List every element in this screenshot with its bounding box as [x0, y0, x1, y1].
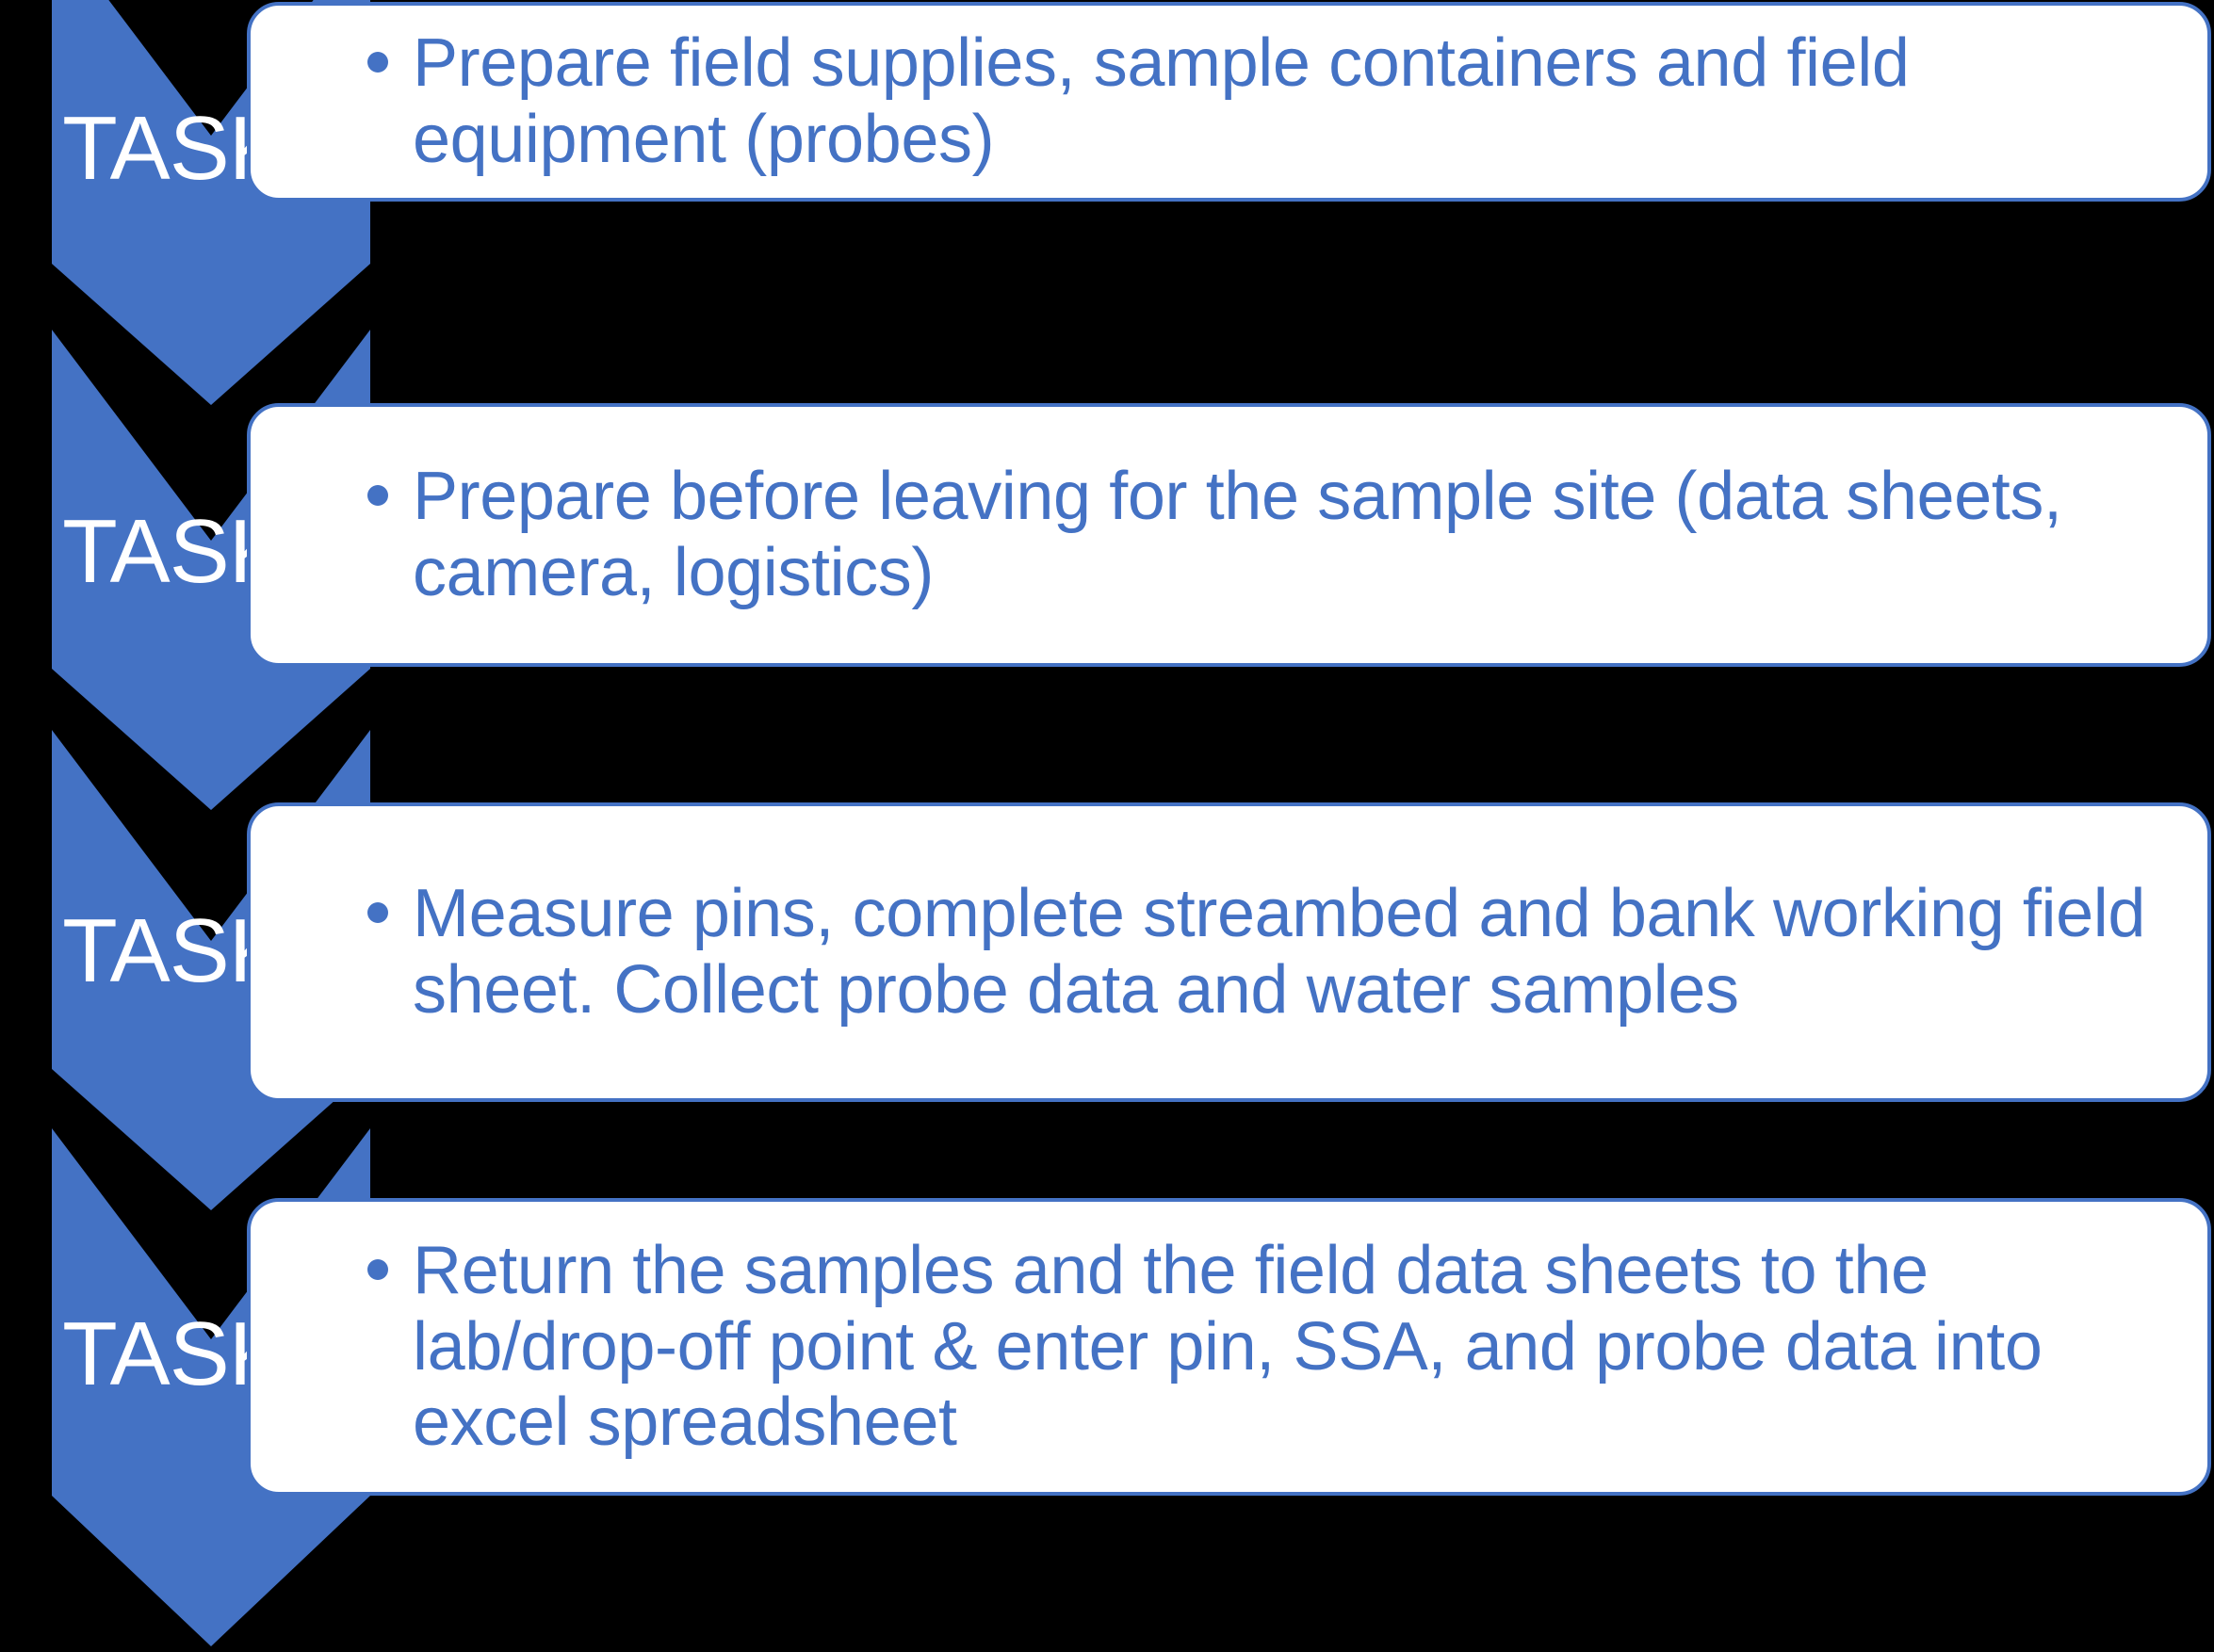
- task-2-callout: Prepare before leaving for the sample si…: [247, 403, 2211, 667]
- bullet-icon: [367, 52, 388, 73]
- task-1-callout: Prepare field supplies, sample container…: [247, 2, 2211, 202]
- bullet-icon: [367, 1259, 388, 1280]
- task-4-callout: Return the samples and the field data sh…: [247, 1198, 2211, 1496]
- task-4-text: Return the samples and the field data sh…: [413, 1233, 2173, 1461]
- bullet-icon: [367, 902, 388, 923]
- task-3-text: Measure pins, complete streambed and ban…: [413, 876, 2173, 1028]
- task-3-callout: Measure pins, complete streambed and ban…: [247, 802, 2211, 1102]
- bullet-icon: [367, 485, 388, 506]
- task-2-text: Prepare before leaving for the sample si…: [413, 459, 2173, 610]
- task-1-text: Prepare field supplies, sample container…: [413, 25, 2173, 177]
- workflow-diagram: TASK 1 Prepare field supplies, sample co…: [0, 0, 2214, 1652]
